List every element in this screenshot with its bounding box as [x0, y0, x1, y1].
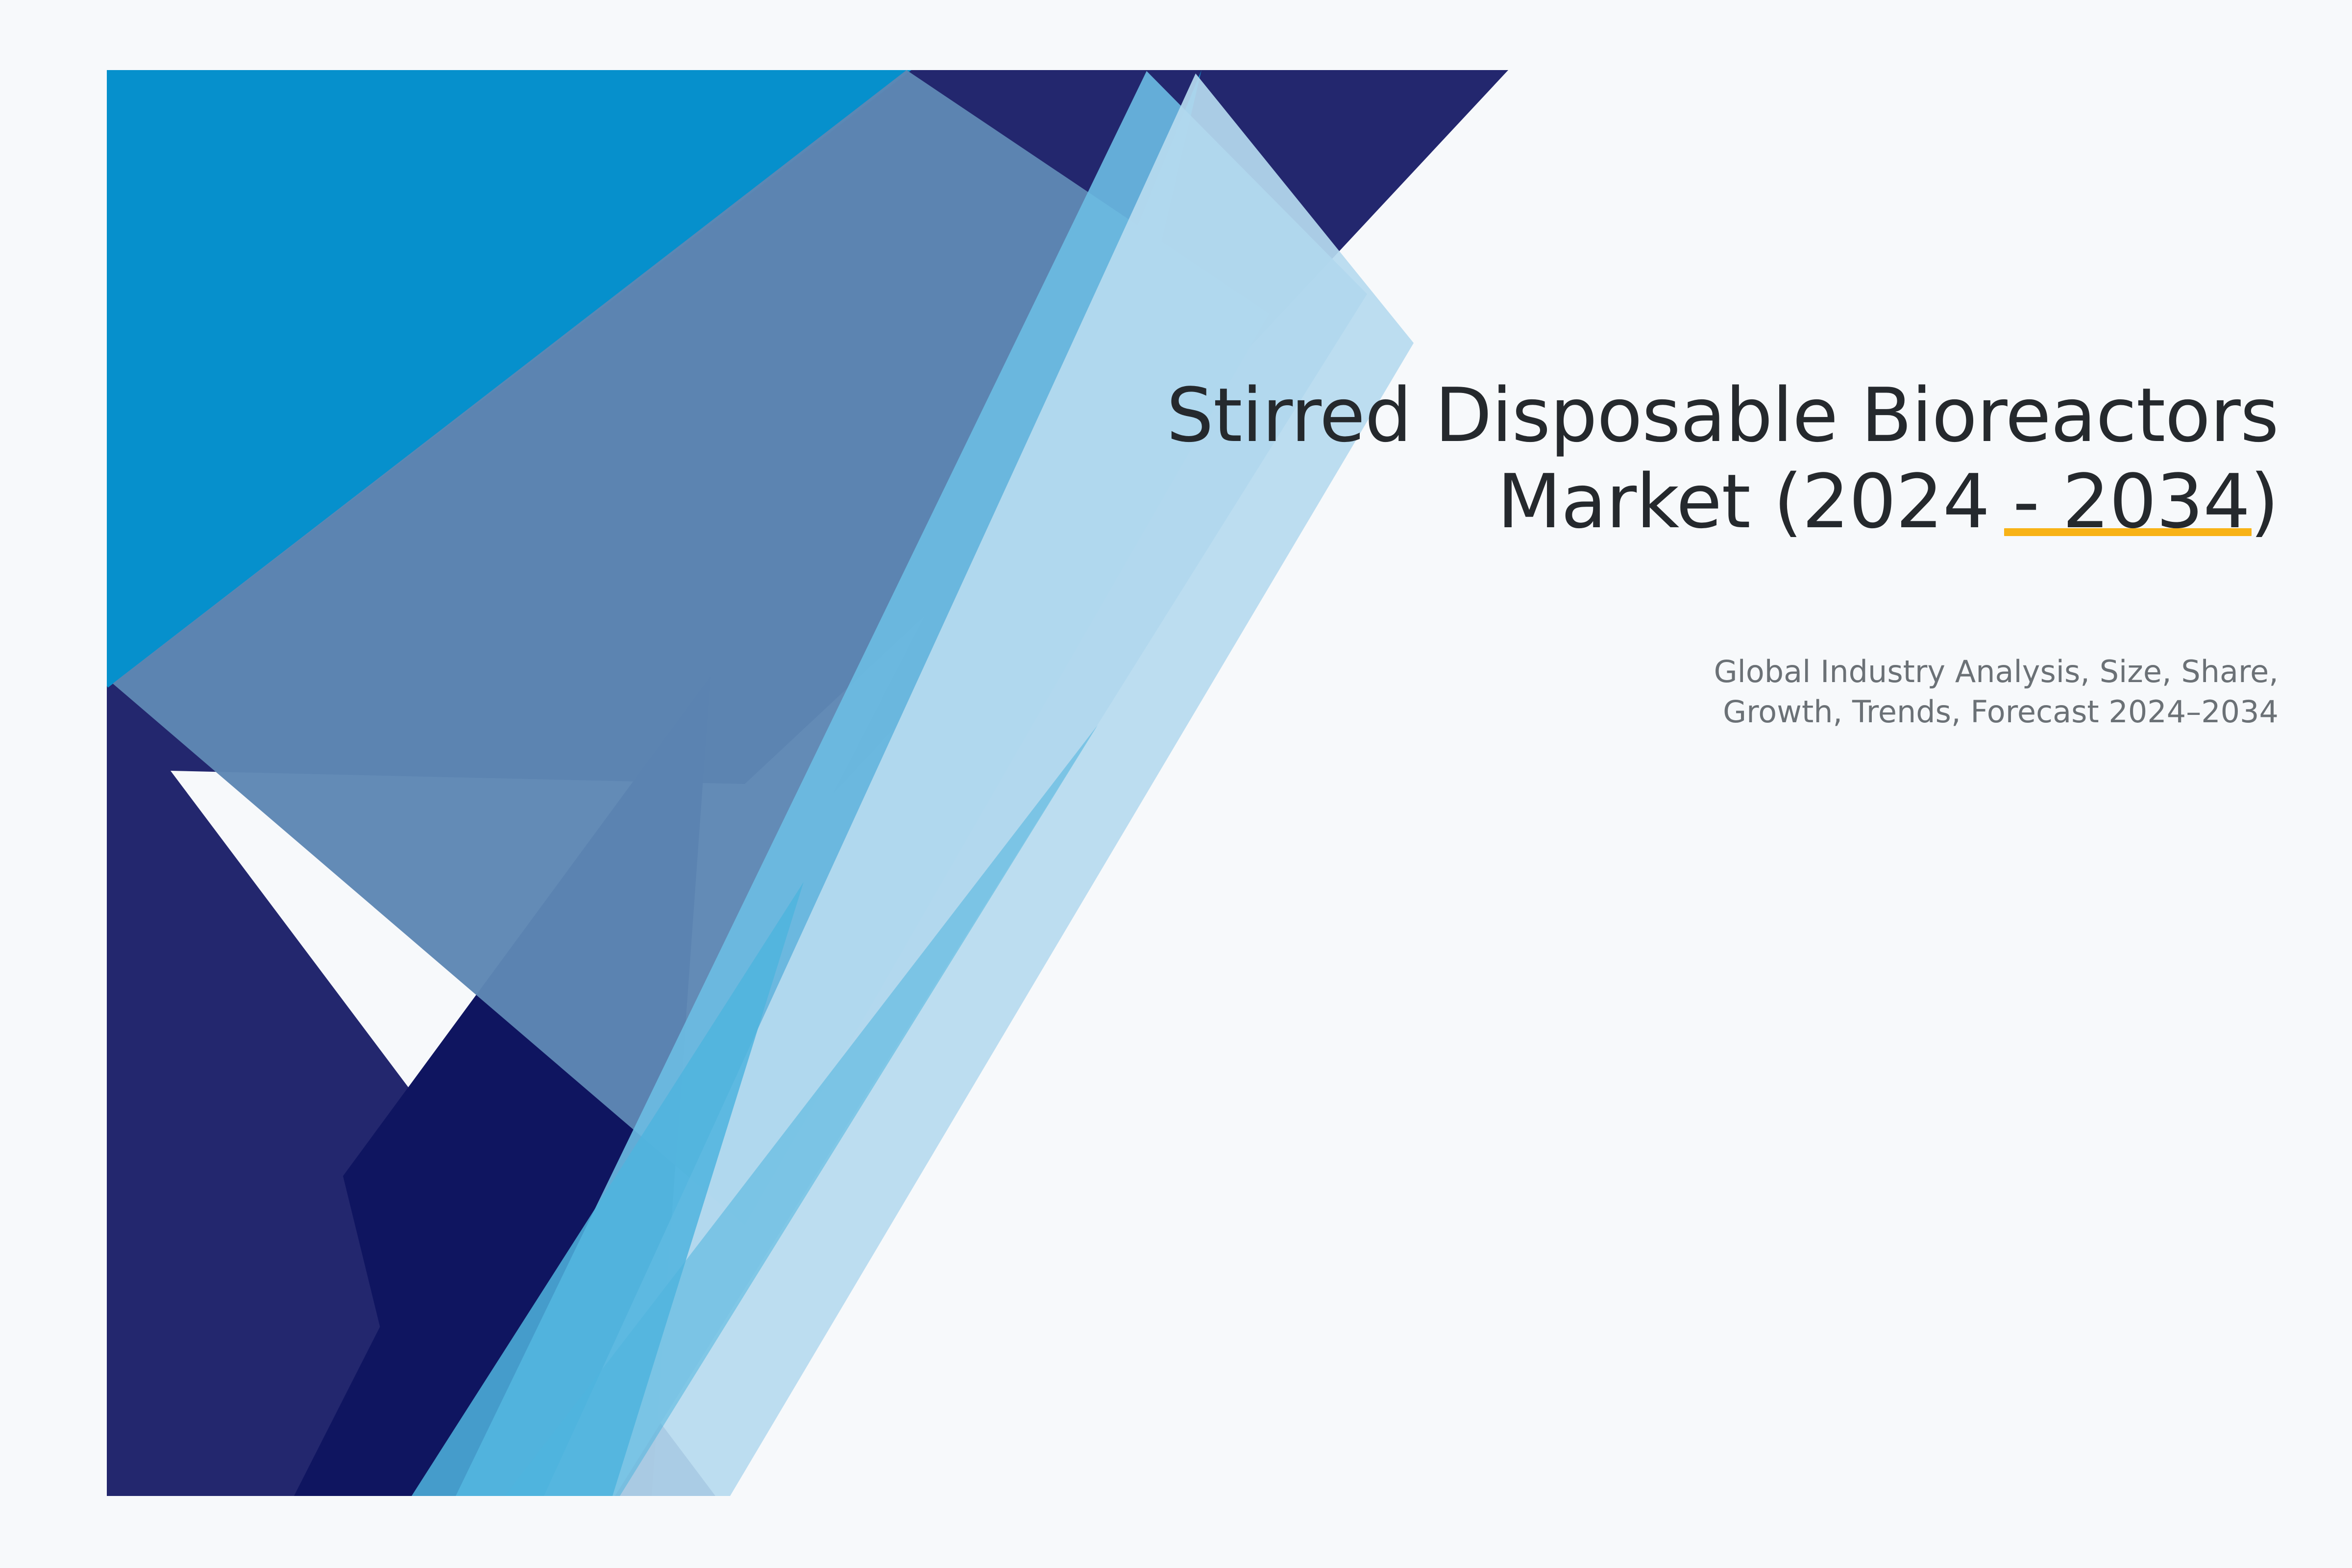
cover-page: Stirred Disposable Bioreactors Market (2… — [0, 0, 2352, 1568]
decorative-artwork — [0, 0, 2352, 1568]
page-subtitle-line-2: Growth, Trends, Forecast 2024–2034 — [1723, 694, 2278, 730]
page-subtitle: Global Industry Analysis, Size, Share, G… — [1298, 652, 2278, 733]
page-title-line-2: Market (2024 - 2034) — [1497, 458, 2278, 545]
page-subtitle-line-1: Global Industry Analysis, Size, Share, — [1714, 654, 2278, 689]
title-block: Stirred Disposable Bioreactors Market (2… — [1068, 372, 2278, 545]
page-title-line-1: Stirred Disposable Bioreactors — [1166, 372, 2278, 459]
page-title: Stirred Disposable Bioreactors Market (2… — [1068, 372, 2278, 545]
